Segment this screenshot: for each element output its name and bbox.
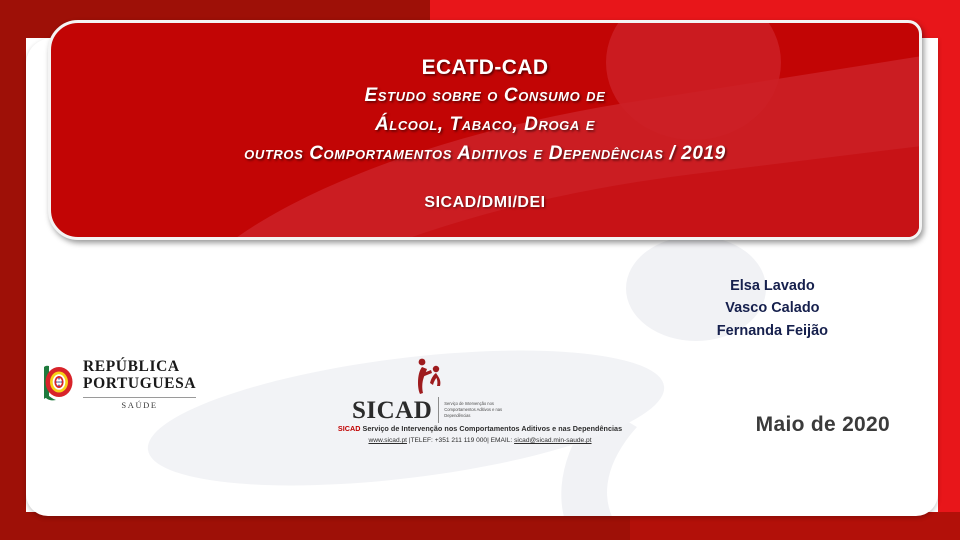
frame-right-column <box>938 0 960 540</box>
author-name: Fernanda Feijão <box>717 320 828 342</box>
footer-phone: |TELEF: +351 211 119 000| <box>409 437 489 444</box>
ministry-label: SAÚDE <box>83 401 196 410</box>
slide-subtitle-line-3: outros Comportamentos Aditivos e Dependê… <box>51 141 919 168</box>
footer-org-name: Serviço de Intervenção nos Comportamento… <box>363 424 623 433</box>
banner-text-block: ECATD-CAD Estudo sobre o Consumo de Álco… <box>51 23 919 212</box>
footer-email-link[interactable]: sicad@sicad.min-saude.pt <box>514 437 591 444</box>
footer-org-abbr: SICAD <box>338 424 361 433</box>
republica-divider <box>83 397 196 398</box>
republica-line-2: PORTUGUESA <box>83 375 196 392</box>
title-banner: ECATD-CAD Estudo sobre o Consumo de Álco… <box>48 20 922 240</box>
sicad-figure-icon <box>407 355 451 395</box>
sicad-logo: SICAD Serviço de Intervenção nos Comport… <box>352 355 506 423</box>
frame-left-column <box>0 0 26 532</box>
sicad-wordmark-row: SICAD Serviço de Intervenção nos Comport… <box>352 397 506 423</box>
slide-subtitle-line-2: Álcool, Tabaco, Droga e <box>51 112 919 139</box>
republica-portuguesa-logo: REPÚBLICA PORTUGUESA SAÚDE <box>40 358 196 409</box>
presentation-slide: ECATD-CAD Estudo sobre o Consumo de Álco… <box>0 0 960 540</box>
republica-line-1: REPÚBLICA <box>83 358 196 375</box>
frame-bottom-right-band <box>630 512 960 540</box>
sicad-wordmark: SICAD <box>352 398 432 423</box>
footer-org-line: SICAD Serviço de Intervenção nos Comport… <box>0 424 960 433</box>
sicad-tagline: Serviço de Intervenção nos Comportamento… <box>444 401 506 419</box>
slide-footer: SICAD Serviço de Intervenção nos Comport… <box>0 424 960 444</box>
slide-title: ECATD-CAD <box>51 55 919 81</box>
author-list: Elsa Lavado Vasco Calado Fernanda Feijão <box>717 275 828 342</box>
author-name: Vasco Calado <box>717 297 828 319</box>
republica-wordmark: REPÚBLICA PORTUGUESA SAÚDE <box>83 358 196 409</box>
footer-contact-line: www.sicad.pt |TELEF: +351 211 119 000| E… <box>0 437 960 444</box>
department-label: SICAD/DMI/DEI <box>51 194 919 212</box>
author-name: Elsa Lavado <box>717 275 828 297</box>
slide-subtitle-line-1: Estudo sobre o Consumo de <box>51 83 919 110</box>
portuguese-shield-icon <box>40 364 74 404</box>
footer-email-label: EMAIL: <box>491 437 513 444</box>
sicad-logo-divider <box>438 397 439 423</box>
footer-website-link[interactable]: www.sicad.pt <box>368 437 406 444</box>
